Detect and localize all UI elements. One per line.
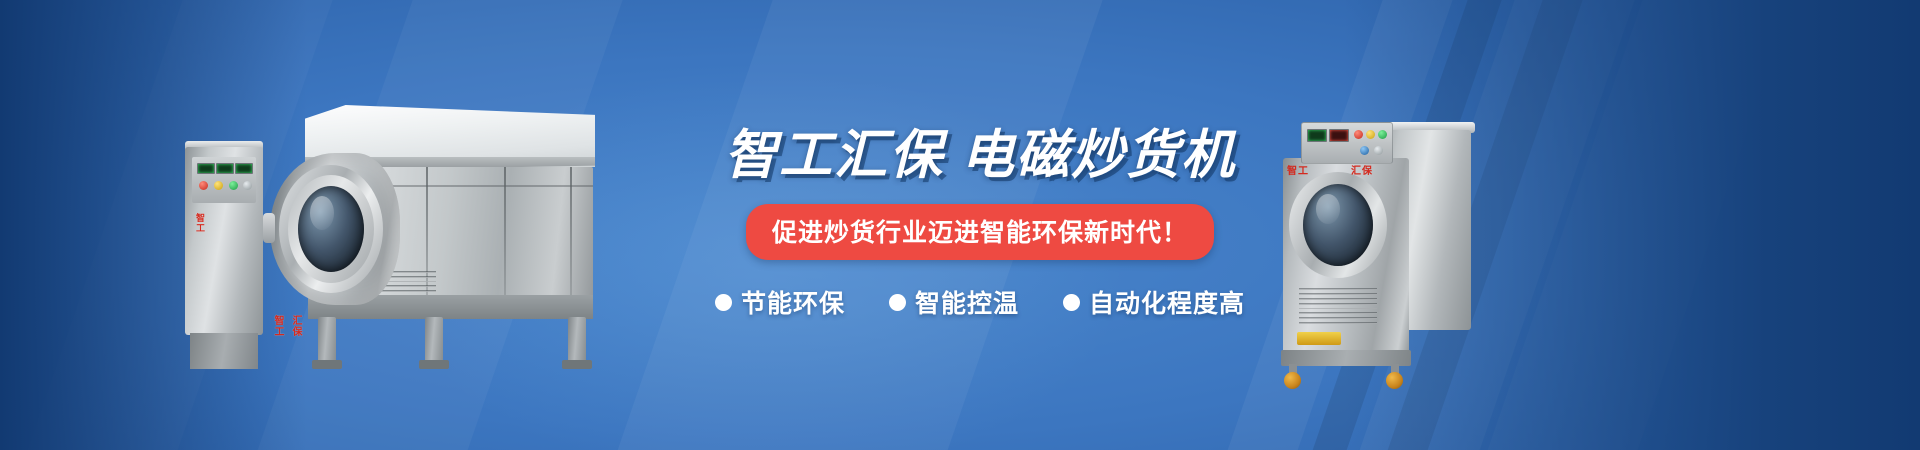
brand-plate <box>1297 332 1341 345</box>
cabinet-base <box>190 333 258 369</box>
caster-wheel <box>1284 372 1301 389</box>
display-readout <box>197 163 215 174</box>
feature-label: 自动化程度高 <box>1089 284 1245 320</box>
machine-foot <box>312 360 342 369</box>
white-button <box>243 181 252 190</box>
drum-viewing-window <box>298 186 364 272</box>
feature-label: 节能环保 <box>741 284 845 320</box>
green-button <box>229 181 238 190</box>
machine-brand-mark-1: 智工 <box>270 315 285 337</box>
feature-item: 节能环保 <box>715 284 845 320</box>
ventilation-grille <box>1299 288 1377 324</box>
bullet-dot-icon <box>715 294 732 311</box>
promo-banner: 智工 智工 汇保 <box>0 0 1920 450</box>
feature-label: 智能控温 <box>915 284 1019 320</box>
blue-button <box>1360 146 1369 155</box>
banner-text-block: 智工汇保 电磁炒货机 促进炒货行业迈进智能环保新时代！ 节能环保 智能控温 自动… <box>700 128 1260 320</box>
bullet-dot-icon <box>1063 294 1080 311</box>
bullet-dot-icon <box>889 294 906 311</box>
machine-brand-mark-2: 汇保 <box>1351 162 1373 177</box>
banner-tagline-wrap: 促进炒货行业迈进智能环保新时代！ <box>700 204 1260 260</box>
banner-tagline-badge: 促进炒货行业迈进智能环保新时代！ <box>746 204 1214 260</box>
display-readout <box>235 163 253 174</box>
machine-leg <box>568 317 586 363</box>
machine-foot <box>562 360 592 369</box>
display-readout <box>1307 129 1327 142</box>
red-button <box>199 181 208 190</box>
body-seam <box>504 167 506 302</box>
caster-wheel <box>1386 372 1403 389</box>
display-readout <box>1329 129 1349 142</box>
red-button <box>1354 130 1363 139</box>
banner-headline: 智工汇保 电磁炒货机 <box>700 128 1260 184</box>
machine-brand-mark-1: 智工 <box>1287 162 1309 177</box>
machine-foot <box>419 360 449 369</box>
feature-item: 智能控温 <box>889 284 1019 320</box>
product-image-vertical-roaster: 智工 汇保 <box>1265 100 1515 400</box>
machine-leg <box>318 317 336 363</box>
body-seam <box>570 167 572 302</box>
drum-door-handle <box>263 213 275 243</box>
product-image-large-roaster: 智工 智工 汇保 <box>230 105 660 375</box>
display-readout <box>216 163 234 174</box>
feature-list: 节能环保 智能控温 自动化程度高 <box>700 284 1260 320</box>
white-button <box>1374 146 1383 155</box>
machine-leg <box>425 317 443 363</box>
machine-brand-mark-2: 汇保 <box>288 315 303 337</box>
feature-item: 自动化程度高 <box>1063 284 1245 320</box>
drum-viewing-window <box>1303 184 1373 266</box>
cabinet-brand-mark: 智工 <box>194 213 207 233</box>
control-panel <box>192 157 256 203</box>
yellow-button <box>1366 130 1375 139</box>
yellow-button <box>214 181 223 190</box>
green-button <box>1378 130 1387 139</box>
control-panel <box>1301 122 1393 164</box>
